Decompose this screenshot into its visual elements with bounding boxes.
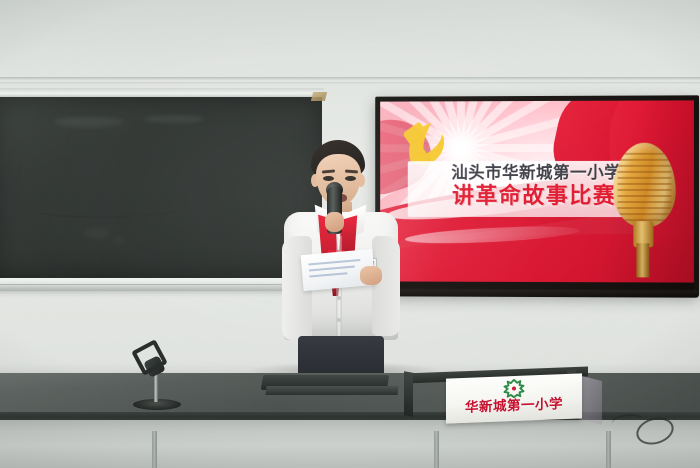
- chalk-smudge: [54, 117, 124, 127]
- mic-head: [613, 143, 676, 228]
- screen-bottom-bezel: [375, 289, 699, 297]
- presenter-hand-right: [360, 266, 382, 285]
- mic-grille-bar: [617, 207, 671, 209]
- chalk-smudge: [112, 237, 126, 244]
- mic-grille-bar: [617, 159, 671, 161]
- screen-surface: 汕头市华新城第一小学 讲革命故事比赛: [380, 100, 694, 282]
- shirt-button: [337, 296, 341, 300]
- desk-leg: [606, 431, 611, 468]
- mic-grille-bar: [617, 195, 671, 197]
- mic-stem: [636, 243, 649, 277]
- desk-front-panel: [0, 431, 700, 468]
- presenter-eye-right: [345, 176, 356, 181]
- shirt-button: [337, 318, 341, 322]
- chalk-smudge: [144, 115, 204, 123]
- desk-leg: [434, 431, 439, 468]
- script-text-line: [308, 259, 360, 266]
- school-flower-logo-icon: [503, 379, 525, 399]
- classroom-scene: 汕头市华新城第一小学 讲革命故事比赛: [0, 0, 700, 468]
- student-presenter: [278, 140, 406, 402]
- wall-seam-upper: [0, 77, 700, 80]
- school-name-text: 华新城第一小学: [450, 396, 578, 418]
- chalk-tray-line: [0, 284, 324, 285]
- chalk-smudge: [224, 157, 254, 227]
- presentation-screen[interactable]: 汕头市华新城第一小学 讲革命故事比赛: [375, 95, 699, 294]
- script-text-line: [309, 272, 347, 277]
- name-card-stand-left: [404, 371, 413, 416]
- presenter-arm-right: [372, 236, 400, 336]
- wall-seam-lower: [0, 82, 700, 84]
- desk-leg: [152, 431, 157, 468]
- mic-grille-bar: [617, 165, 671, 167]
- chalkboard: [0, 88, 324, 300]
- chalkboard-glare: [0, 97, 322, 279]
- presenter-hand-left: [325, 212, 344, 232]
- chalkboard-surface: [0, 97, 322, 279]
- laptop-body[interactable]: [265, 386, 398, 395]
- chalkboard-corner-clip: [311, 92, 327, 101]
- chalk-smudge: [84, 227, 110, 239]
- mic-grille-bar: [617, 177, 671, 179]
- mic-grille-bar: [617, 183, 671, 185]
- slide-microphone-graphic: [599, 143, 686, 276]
- mic-grille-bar: [617, 201, 671, 203]
- mic-grille-bar: [617, 189, 671, 191]
- mic-grille-bar: [617, 213, 671, 215]
- presenter-eye-left: [323, 176, 334, 181]
- mic-grille-bar: [617, 153, 671, 155]
- script-text-line: [309, 266, 355, 272]
- mic-grille-bar: [617, 171, 671, 173]
- school-name-card: 华新城第一小学: [446, 373, 582, 423]
